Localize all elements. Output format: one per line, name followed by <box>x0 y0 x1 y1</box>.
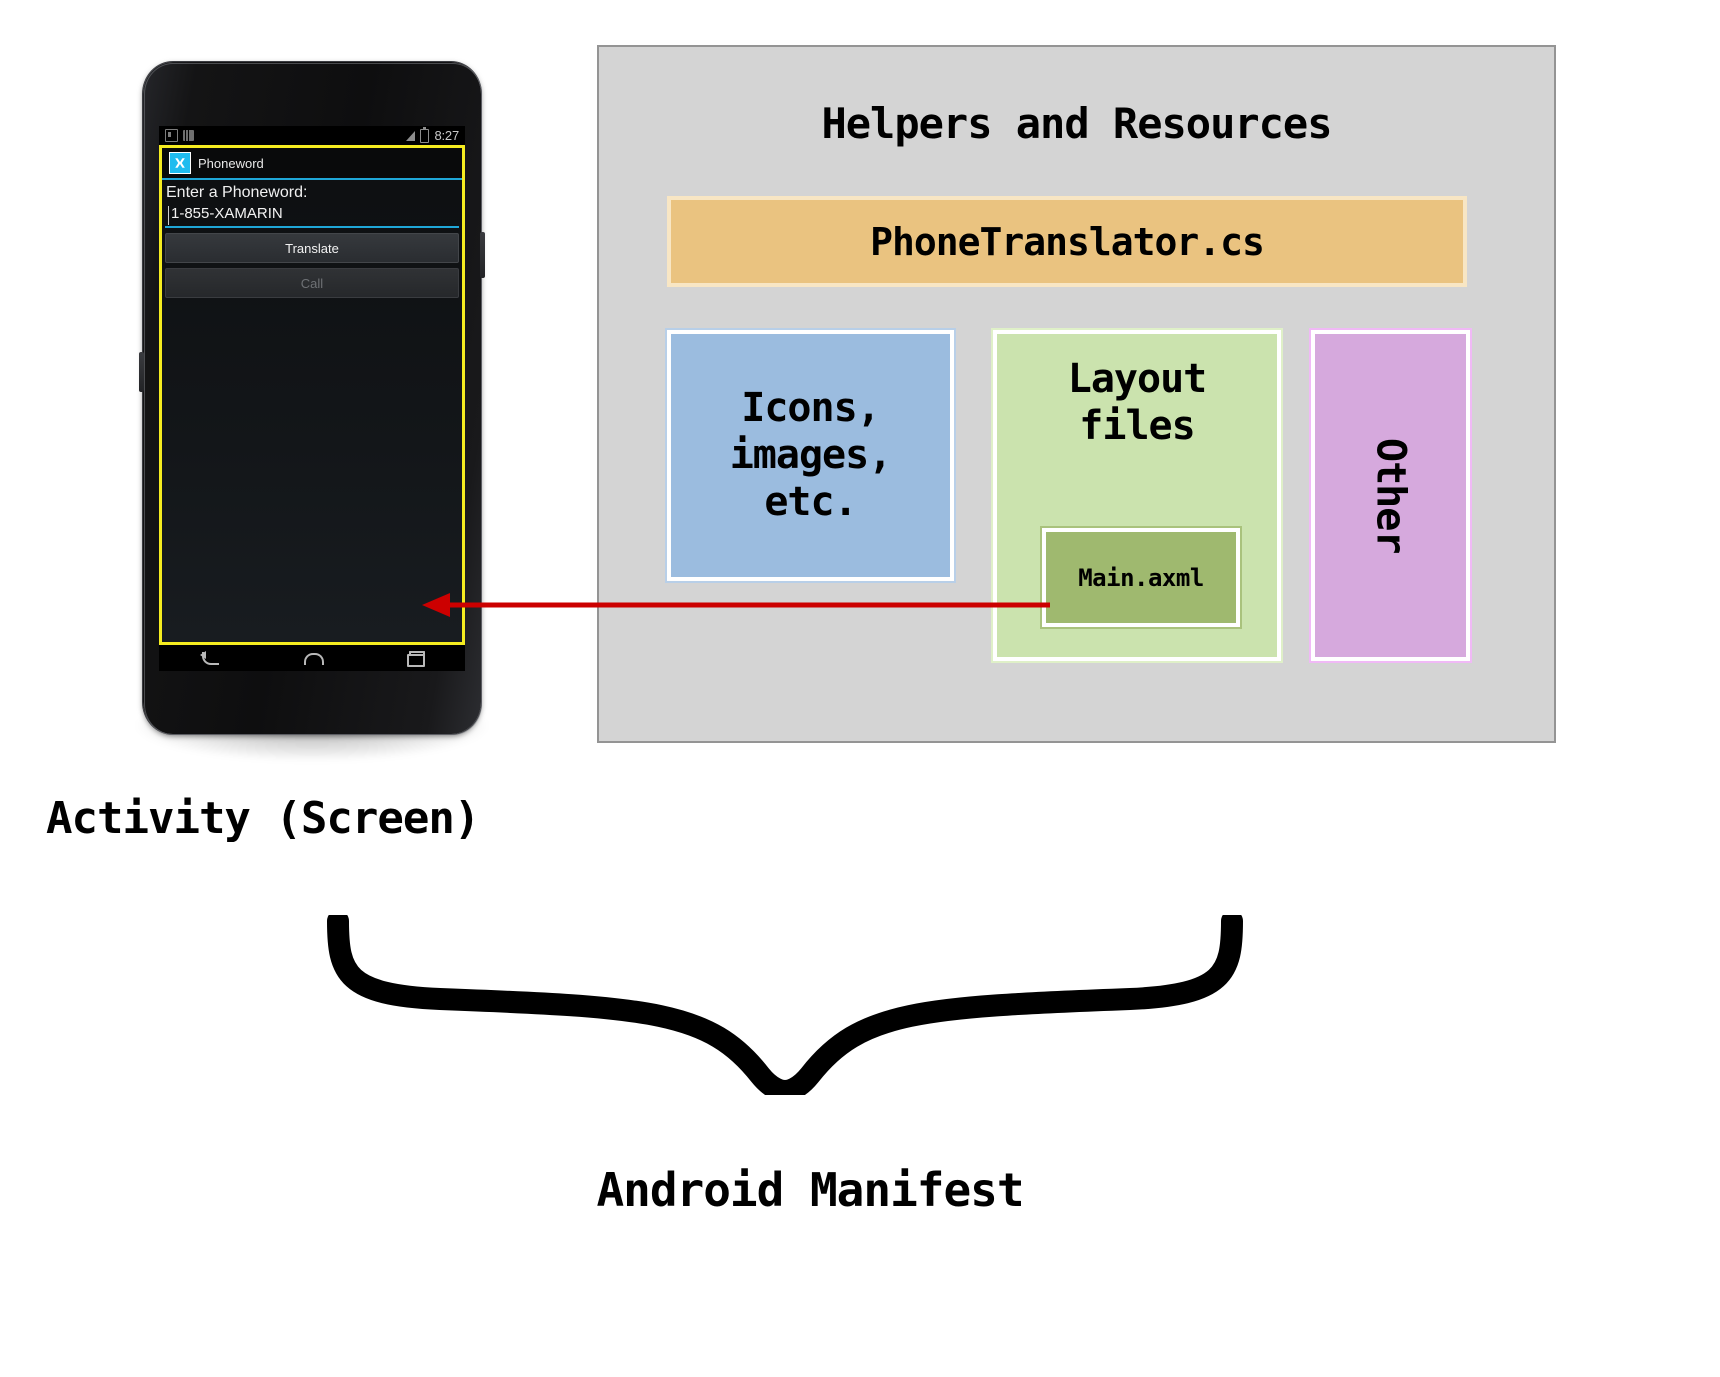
activity-highlight-frame: Phoneword Enter a Phoneword: 1-855-XAMAR… <box>159 145 465 645</box>
layout-files-label: Layout files <box>997 356 1277 450</box>
phonetranslator-cs-label: PhoneTranslator.cs <box>870 220 1264 264</box>
signal-icon <box>406 131 415 141</box>
xamarin-logo-icon <box>169 152 191 174</box>
helpers-and-resources-panel: Helpers and Resources PhoneTranslator.cs… <box>597 45 1556 743</box>
other-resources-label: Other <box>1368 438 1414 553</box>
icons-box-line-2: images, <box>730 432 892 479</box>
manifest-brace <box>320 915 1250 1095</box>
other-resources-box: Other <box>1311 330 1470 661</box>
icons-box-line-1: Icons, <box>741 385 880 432</box>
android-phone-mockup: 8:27 Phoneword Enter a Phoneword: 1-855-… <box>131 62 493 762</box>
icons-images-box: Icons, images, etc. <box>667 330 954 581</box>
battery-icon <box>420 129 429 143</box>
back-icon[interactable] <box>197 650 223 667</box>
translate-button[interactable]: Translate <box>165 233 459 263</box>
phone-volume-button <box>139 352 144 392</box>
panel-title: Helpers and Resources <box>599 99 1554 148</box>
phone-power-button <box>480 232 485 278</box>
icons-box-line-3: etc. <box>764 479 856 526</box>
main-axml-box: Main.axml <box>1042 528 1240 627</box>
activity-screen-label: Activity (Screen) <box>46 793 479 844</box>
layout-box-line-1: Layout <box>997 356 1277 403</box>
app-action-bar: Phoneword <box>162 148 462 180</box>
phoneword-input-value: 1-855-XAMARIN <box>168 205 456 222</box>
phonetranslator-cs-box: PhoneTranslator.cs <box>667 196 1467 287</box>
home-icon[interactable] <box>299 650 325 667</box>
main-axml-label: Main.axml <box>1078 564 1204 592</box>
text-caret <box>168 206 169 225</box>
app-title: Phoneword <box>198 156 264 171</box>
recents-icon[interactable] <box>401 650 427 667</box>
sim-card-icon <box>165 129 178 142</box>
layout-box-line-2: files <box>997 403 1277 450</box>
android-status-bar: 8:27 <box>159 126 465 145</box>
phoneword-input-field[interactable]: 1-855-XAMARIN <box>165 204 459 228</box>
sd-card-icon <box>183 130 194 141</box>
status-bar-clock: 8:27 <box>434 128 459 143</box>
main-axml-to-activity-arrow <box>410 580 1070 630</box>
android-navigation-bar <box>159 645 465 671</box>
phoneword-prompt-label: Enter a Phoneword: <box>162 180 462 204</box>
call-button[interactable]: Call <box>165 268 459 298</box>
android-manifest-label: Android Manifest <box>0 1163 1620 1217</box>
